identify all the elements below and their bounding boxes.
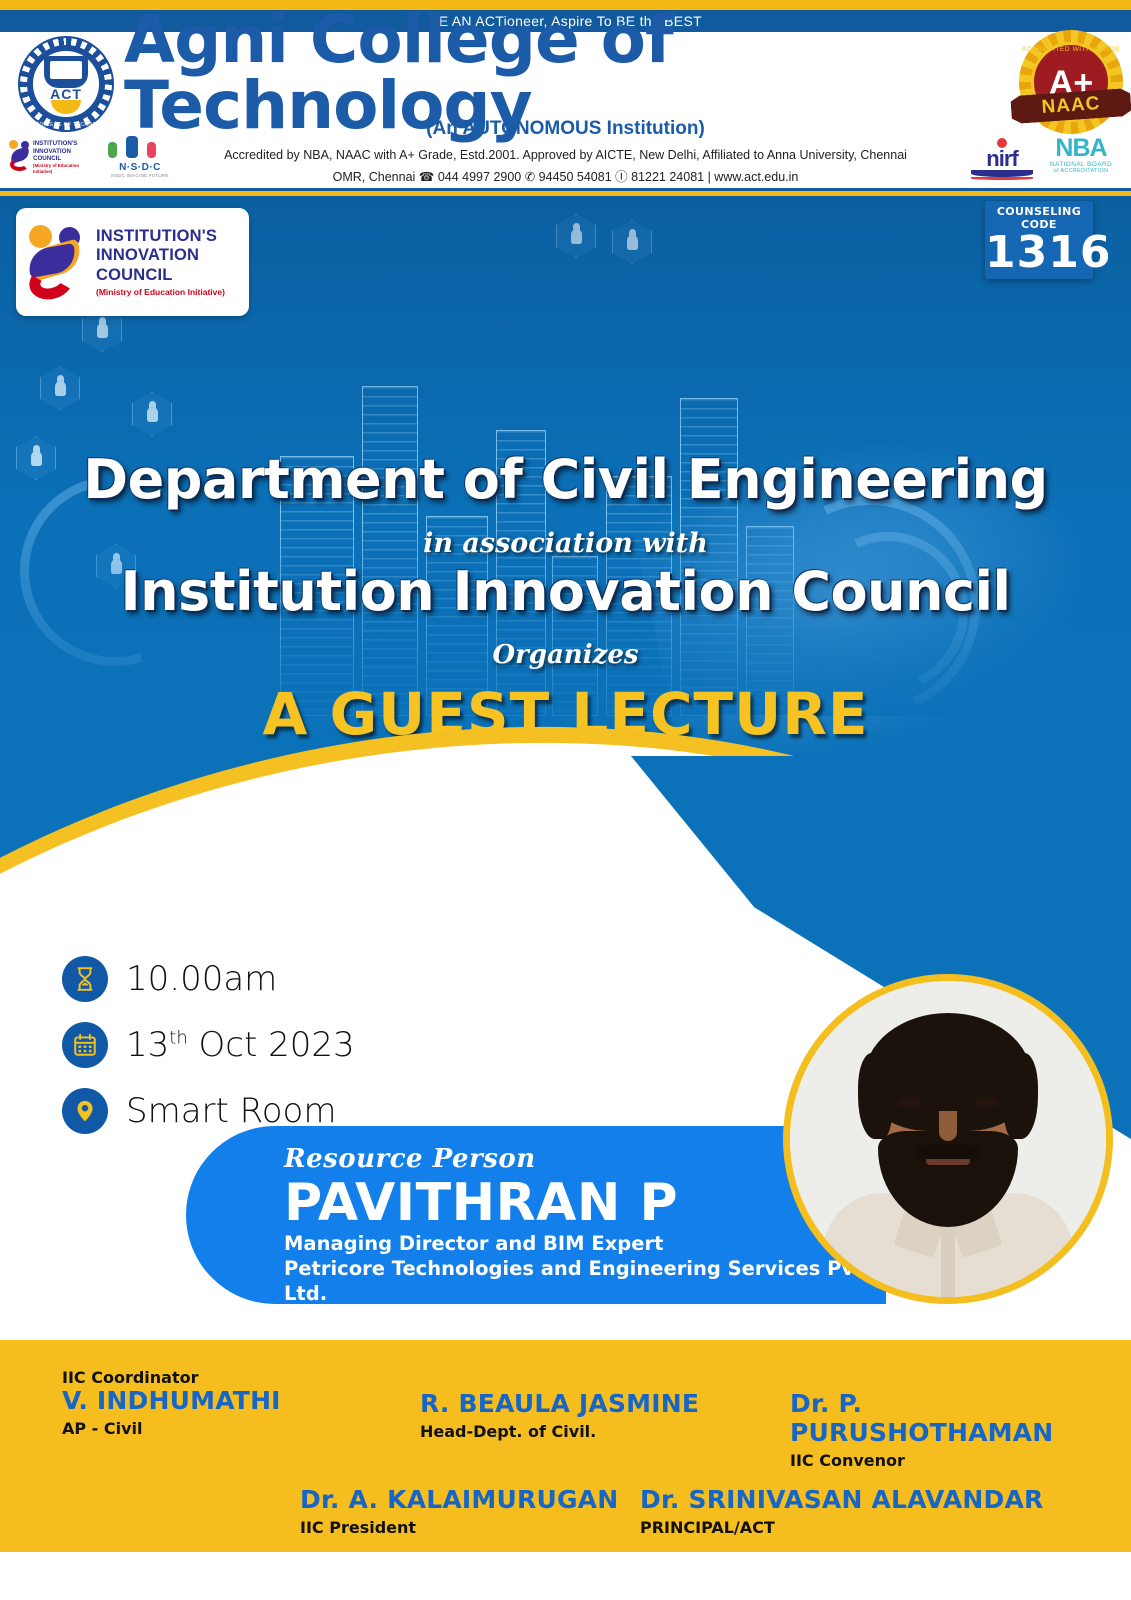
header-iic-l1: INSTITUTION'S <box>33 140 94 148</box>
association-text: in association with <box>423 528 708 559</box>
footer-person-1: R. BEAULA JASMINE Head-Dept. of Civil. <box>420 1390 699 1441</box>
footer-credits: IIC Coordinator V. INDHUMATHI AP - Civil… <box>0 1340 1131 1552</box>
footer-person-2: Dr. P. PURUSHOTHAMAN IIC Convenor <box>790 1390 1131 1470</box>
location-pin-icon <box>62 1088 108 1134</box>
event-date-rest: Oct 2023 <box>188 1025 355 1065</box>
nba-l2: of ACCREDITATION <box>1039 168 1123 174</box>
hourglass-icon <box>62 956 108 1002</box>
hero-section: COUNSELING CODE 1316 INSTITUTION'S INNOV… <box>0 196 1131 1339</box>
event-time: 10.00am <box>126 959 277 999</box>
footer-person-3-role: IIC President <box>300 1518 618 1537</box>
counseling-code-badge: COUNSELING CODE 1316 <box>985 201 1093 279</box>
event-date: 13th Oct 2023 <box>126 1025 355 1065</box>
footer-person-1-name: R. BEAULA JASMINE <box>420 1390 699 1419</box>
iic-card-line3: COUNCIL <box>96 266 225 285</box>
iic-card-sub: (Ministry of Education Initiative) <box>96 287 225 297</box>
naac-ribbon-text: NAAC <box>1041 93 1101 119</box>
footer-person-3: Dr. A. KALAIMURUGAN IIC President <box>300 1486 618 1537</box>
footer-person-0-name: V. INDHUMATHI <box>62 1387 281 1416</box>
footer-person-1-role: Head-Dept. of Civil. <box>420 1422 699 1441</box>
footer-person-3-name: Dr. A. KALAIMURUGAN <box>300 1486 618 1515</box>
event-date-sup: th <box>169 1028 187 1049</box>
autonomous-text: (An AUTONOMOUS Institution) <box>426 118 705 139</box>
partner-heading-text: Institution Innovation Council <box>121 560 1011 623</box>
header-iic-logo-icon: INSTITUTION'S INNOVATION COUNCIL (Minist… <box>8 134 94 180</box>
calendar-icon <box>62 1022 108 1068</box>
iic-logo-card: INSTITUTION'S INNOVATION COUNCIL (Minist… <box>16 208 249 316</box>
footer-person-4-role: PRINCIPAL/ACT <box>640 1518 1043 1537</box>
nsdc-name: N·S·D·C <box>100 162 180 173</box>
detail-row-date: 13th Oct 2023 <box>62 1022 482 1068</box>
nirf-name: nirf <box>971 149 1033 169</box>
college-wordmark: Agni College of Technology <box>124 34 954 112</box>
department-heading: Department of Civil Engineering <box>0 448 1131 511</box>
organizes-line: Organizes <box>0 640 1131 670</box>
footer-person-2-role: IIC Convenor <box>790 1451 1131 1470</box>
nirf-logo-icon: nirf <box>971 138 1033 182</box>
nsdc-tagline: NSDC IMAGINE FUTURE <box>100 173 180 178</box>
partner-heading: Institution Innovation Council <box>0 560 1131 623</box>
iic-card-line1: INSTITUTION'S <box>96 227 225 246</box>
nsdc-logo-icon: N·S·D·C NSDC IMAGINE FUTURE <box>100 134 180 182</box>
footer-person-0-role-top: IIC Coordinator <box>62 1368 281 1387</box>
poster-root: BE AN ACTioneer, Aspire To BE the BEST A… <box>0 0 1131 1600</box>
naac-arc-text: ACCREDITED WITH GRADE <box>1019 46 1123 53</box>
detail-row-time: 10.00am <box>62 956 482 1002</box>
event-date-day: 13 <box>126 1025 169 1065</box>
footer-person-4: Dr. SRINIVASAN ALAVANDAR PRINCIPAL/ACT <box>640 1486 1043 1537</box>
counseling-code-value: 1316 <box>985 231 1093 275</box>
footer-person-0-role: AP - Civil <box>62 1419 281 1438</box>
association-line: in association with <box>0 528 1131 559</box>
nba-l1: NATIONAL BOARD <box>1039 161 1123 168</box>
iic-logo-icon <box>26 221 88 303</box>
header-iic-l3: COUNCIL <box>33 155 94 163</box>
accreditation-text: Accredited by NBA, NAAC with A+ Grade, E… <box>224 148 907 162</box>
nba-abbr: NBA <box>1039 136 1123 161</box>
footer-person-4-name: Dr. SRINIVASAN ALAVANDAR <box>640 1486 1043 1515</box>
header-iic-sub: (Ministry of Education Initiative) <box>33 163 94 174</box>
header-iic-l2: INNOVATION <box>33 148 94 156</box>
naac-a-plus-badge-icon: ACCREDITED WITH GRADE A+ NAAC <box>1019 30 1123 134</box>
department-heading-text: Department of Civil Engineering <box>83 448 1047 511</box>
footer-person-2-name: Dr. P. PURUSHOTHAMAN <box>790 1390 1131 1448</box>
footer-person-0: IIC Coordinator V. INDHUMATHI AP - Civil <box>62 1368 281 1438</box>
contact-text: OMR, Chennai ☎ 044 4997 2900 ✆ 94450 540… <box>333 170 799 184</box>
speaker-photo-avatar <box>783 974 1113 1304</box>
event-details-list: 10.00am 13th Oct 2023 <box>62 956 482 1154</box>
resource-person-panel: Resource Person PAVITHRAN P Managing Dir… <box>186 1126 886 1304</box>
event-venue: Smart Room <box>126 1091 336 1131</box>
nba-logo-icon: NBA NATIONAL BOARD of ACCREDITATION <box>1039 136 1123 182</box>
iic-card-line2: INNOVATION <box>96 246 225 265</box>
organizes-text: Organizes <box>492 640 638 670</box>
